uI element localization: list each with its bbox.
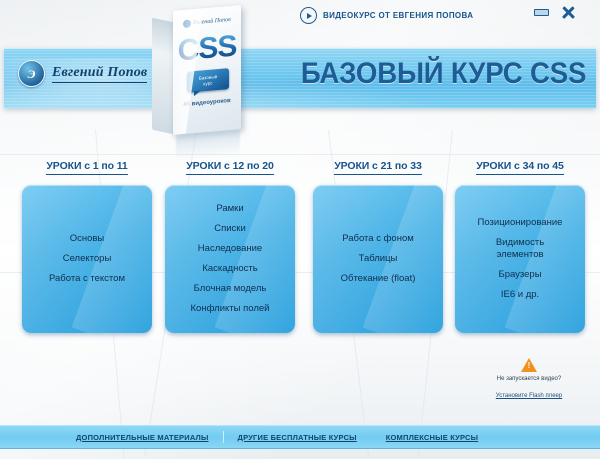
- box-brand-logo: Евгений Попов: [183, 16, 231, 28]
- lesson-group-heading: УРОКИ с 34 по 45: [455, 160, 585, 172]
- box-front: Евгений Попов CSS Базовый курс 45 видеоу…: [173, 5, 241, 135]
- lesson-item[interactable]: Каскадность: [202, 259, 257, 279]
- box-subtitle: 45 видеоуроков: [173, 97, 241, 109]
- lesson-item[interactable]: Таблицы: [359, 249, 398, 269]
- play-circle-icon: [300, 7, 317, 24]
- title-bar: ВИДЕОКУРС ОТ ЕВГЕНИЯ ПОПОВА: [0, 0, 600, 46]
- footer-link-complex-courses[interactable]: КОМПЛЕКСНЫЕ КУРСЫ: [386, 433, 478, 442]
- install-flash-link[interactable]: Установите Flash плеер: [496, 393, 562, 399]
- course-menu-window: ВИДЕОКУРС ОТ ЕВГЕНИЯ ПОПОВА Э Евгений По…: [0, 0, 600, 459]
- lesson-item[interactable]: Видимость элементов: [496, 233, 544, 265]
- lesson-group-heading: УРОКИ с 12 по 20: [165, 160, 295, 172]
- footer-link-free-courses[interactable]: ДРУГИЕ БЕСПЛАТНЫЕ КУРСЫ: [238, 433, 357, 442]
- footer-link-extra-materials[interactable]: ДОПОЛНИТЕЛЬНЫЕ МАТЕРИАЛЫ: [76, 433, 209, 442]
- warning-triangle-icon: [521, 358, 537, 372]
- flash-warning: Не запускается видео? Установите Flash п…: [468, 358, 590, 402]
- logo-emblem-icon: Э: [18, 60, 45, 87]
- lesson-panel-1[interactable]: Основы Селекторы Работа с текстом: [22, 185, 152, 333]
- lesson-group-heading: УРОКИ с 1 по 11: [22, 160, 152, 172]
- lesson-group-3: УРОКИ с 21 по 33 Работа с фоном Таблицы …: [313, 160, 443, 333]
- lesson-group-2: УРОКИ с 12 по 20 Рамки Списки Наследован…: [165, 160, 295, 333]
- box-logo-emblem-icon: [183, 19, 191, 28]
- logo-signature: Евгений Попов: [52, 65, 147, 83]
- flash-warning-text: Не запускается видео?: [468, 375, 590, 384]
- lesson-item[interactable]: Обтекание (float): [341, 269, 416, 289]
- lesson-item[interactable]: Основы: [70, 229, 105, 249]
- lesson-item[interactable]: Селекторы: [63, 249, 112, 269]
- lesson-item[interactable]: Работа с текстом: [49, 269, 125, 289]
- box-badge: Базовый курс: [187, 68, 229, 93]
- lesson-item[interactable]: IE6 и др.: [501, 285, 539, 305]
- topbar-title: ВИДЕОКУРС ОТ ЕВГЕНИЯ ПОПОВА: [323, 11, 473, 20]
- lesson-group-4: УРОКИ с 34 по 45 Позиционирование Видимо…: [455, 160, 585, 333]
- footer-bar: ДОПОЛНИТЕЛЬНЫЕ МАТЕРИАЛЫ ДРУГИЕ БЕСПЛАТН…: [0, 425, 600, 449]
- box-brand-name: Евгений Попов: [193, 17, 231, 26]
- lesson-item[interactable]: Работа с фоном: [342, 229, 414, 249]
- minimize-button[interactable]: [534, 9, 549, 16]
- lesson-panel-3[interactable]: Работа с фоном Таблицы Обтекание (float): [313, 185, 443, 333]
- lesson-item[interactable]: Списки: [214, 219, 246, 239]
- lesson-item[interactable]: Рамки: [216, 199, 243, 219]
- product-box-image: Евгений Попов CSS Базовый курс 45 видеоу…: [152, 2, 247, 142]
- box-reflection: [176, 129, 240, 161]
- lesson-item[interactable]: Позиционирование: [478, 213, 563, 233]
- topbar-brand: ВИДЕОКУРС ОТ ЕВГЕНИЯ ПОПОВА: [300, 7, 473, 24]
- page-title: БАЗОВЫЙ КУРС CSS: [301, 57, 586, 91]
- footer-divider: [223, 431, 224, 443]
- lesson-group-1: УРОКИ с 1 по 11 Основы Селекторы Работа …: [22, 160, 152, 333]
- lesson-item[interactable]: Конфликты полей: [191, 299, 270, 319]
- lesson-panel-2[interactable]: Рамки Списки Наследование Каскадность Бл…: [165, 185, 295, 333]
- box-spine: [152, 18, 174, 135]
- lesson-group-heading: УРОКИ с 21 по 33: [313, 160, 443, 172]
- box-badge-line2: курс: [203, 80, 212, 87]
- lesson-item[interactable]: Браузеры: [498, 265, 541, 285]
- close-button[interactable]: [562, 6, 575, 19]
- brand-logo: Э Евгений Попов: [18, 60, 147, 87]
- box-title: CSS: [173, 29, 241, 69]
- lesson-groups: УРОКИ с 1 по 11 Основы Селекторы Работа …: [0, 160, 600, 355]
- logo-initial: Э: [28, 68, 36, 80]
- lesson-item[interactable]: Блочная модель: [194, 279, 267, 299]
- lesson-panel-4[interactable]: Позиционирование Видимость элементов Бра…: [455, 185, 585, 333]
- lesson-item[interactable]: Наследование: [198, 239, 262, 259]
